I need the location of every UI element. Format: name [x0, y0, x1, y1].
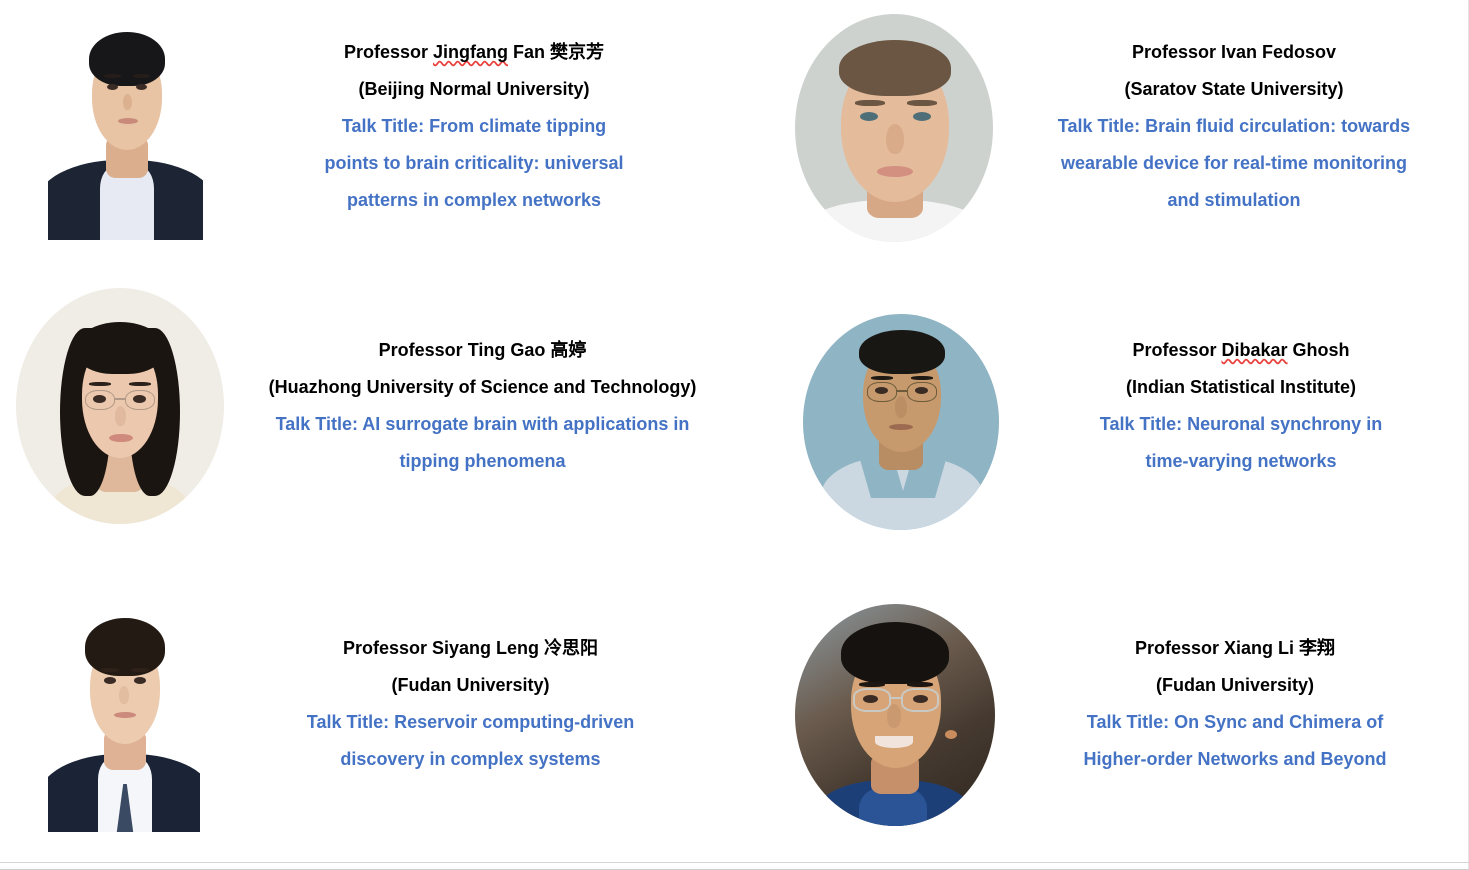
portrait-xiang-li: [795, 604, 995, 826]
name-prefix: Professor: [1132, 42, 1221, 62]
name-prefix: Professor: [379, 340, 468, 360]
photo-mouth: [889, 424, 913, 430]
photo-mouth: [118, 118, 138, 124]
name-rest: Siyang Leng: [432, 638, 544, 658]
photo-brow-right: [907, 100, 937, 106]
photo-eye-left: [93, 395, 106, 403]
photo-hair: [85, 618, 165, 676]
photo-brow-left: [855, 100, 885, 106]
glasses-bridge: [891, 697, 901, 699]
speaker-text-ting-gao: Professor Ting Gao 高婷 (Huazhong Universi…: [224, 288, 735, 480]
talk-title-line-2: discovery in complex systems: [206, 741, 735, 778]
photo-brow-right: [907, 682, 933, 687]
talk-title-line-1: Talk Title: From climate tipping: [213, 108, 735, 145]
speaker-affiliation: (Saratov State University): [999, 71, 1469, 108]
photo-mouth: [877, 166, 913, 177]
speaker-card-ivan-fedosov: Professor Ivan Fedosov (Saratov State Un…: [735, 0, 1469, 282]
talk-title-line-1: Talk Title: AI surrogate brain with appl…: [230, 406, 735, 443]
photo-brow-right: [133, 74, 150, 78]
name-rest: Fan: [508, 42, 550, 62]
talk-title-line-1: Talk Title: Brain fluid circulation: tow…: [999, 108, 1469, 145]
photo-mouth: [114, 712, 136, 718]
photo-hair: [859, 330, 945, 374]
name-cjk: 冷思阳: [544, 638, 598, 658]
speaker-affiliation: (Fudan University): [1001, 667, 1469, 704]
name-rest: Ivan Fedosov: [1221, 42, 1336, 62]
photo-eye-right: [913, 112, 931, 121]
photo-brow-left: [101, 668, 119, 672]
name-misspelled: Jingfang: [433, 42, 508, 62]
photo-nose: [887, 704, 901, 728]
speaker-grid: Professor Jingfang Fan 樊京芳 (Beijing Norm…: [0, 0, 1469, 856]
photo-nose: [115, 406, 126, 426]
speaker-name: Professor Xiang Li 李翔: [1001, 630, 1469, 667]
photo-brow-left: [104, 74, 121, 78]
name-prefix: Professor: [344, 42, 433, 62]
speakers-page: Professor Jingfang Fan 樊京芳 (Beijing Norm…: [0, 0, 1469, 870]
speaker-text-siyang-leng: Professor Siyang Leng 冷思阳 (Fudan Univers…: [200, 592, 735, 778]
portrait-jingfang-fan: [48, 8, 203, 240]
speaker-name: Professor Jingfang Fan 樊京芳: [213, 34, 735, 71]
speaker-affiliation: (Beijing Normal University): [213, 71, 735, 108]
photo-eye-left: [875, 387, 888, 394]
talk-title-line-3: patterns in complex networks: [213, 182, 735, 219]
portrait-dibakar-ghosh: [803, 314, 999, 530]
name-cjk: 高婷: [550, 340, 586, 360]
speaker-affiliation: (Indian Statistical Institute): [1013, 369, 1469, 406]
name-cjk: 樊京芳: [550, 42, 604, 62]
portrait-ivan-fedosov: [795, 14, 993, 242]
photo-hair: [89, 32, 165, 86]
photo-eye-right: [134, 677, 146, 684]
portrait-siyang-leng: [48, 592, 200, 832]
name-prefix: Professor: [1135, 638, 1224, 658]
name-misspelled: Dibakar: [1222, 340, 1288, 360]
talk-title-line-3: and stimulation: [999, 182, 1469, 219]
talk-title-line-2: points to brain criticality: universal: [213, 145, 735, 182]
talk-title-line-2: time-varying networks: [1013, 443, 1469, 480]
talk-title-line-1: Talk Title: On Sync and Chimera of: [1001, 704, 1469, 741]
photo-eye-left: [107, 84, 118, 90]
talk-title-line-2: Higher-order Networks and Beyond: [1001, 741, 1469, 778]
photo-nose: [895, 396, 907, 418]
photo-eye-right: [133, 395, 146, 403]
photo-eye-right: [915, 387, 928, 394]
photo-hair: [841, 622, 949, 684]
photo-hair: [76, 322, 164, 374]
speaker-card-siyang-leng: Professor Siyang Leng 冷思阳 (Fudan Univers…: [0, 590, 735, 856]
speaker-card-ting-gao: Professor Ting Gao 高婷 (Huazhong Universi…: [0, 282, 735, 590]
photo-nose: [119, 686, 129, 704]
speaker-name: Professor Dibakar Ghosh: [1013, 332, 1469, 369]
photo-mouth: [109, 434, 133, 442]
speaker-text-xiang-li: Professor Xiang Li 李翔 (Fudan University)…: [995, 604, 1469, 778]
speaker-card-dibakar-ghosh: Professor Dibakar Ghosh (Indian Statisti…: [735, 282, 1469, 590]
speaker-card-jingfang-fan: Professor Jingfang Fan 樊京芳 (Beijing Norm…: [0, 0, 735, 282]
footer-divider: [0, 862, 1469, 863]
speaker-card-xiang-li: Professor Xiang Li 李翔 (Fudan University)…: [735, 590, 1469, 856]
name-prefix: Professor: [343, 638, 432, 658]
photo-brow-left: [859, 682, 885, 687]
speaker-affiliation: (Huazhong University of Science and Tech…: [230, 369, 735, 406]
photo-nose: [123, 94, 132, 110]
speaker-text-jingfang-fan: Professor Jingfang Fan 樊京芳 (Beijing Norm…: [203, 8, 735, 219]
photo-wrap-xiang-li: [795, 604, 995, 826]
photo-brow-left: [871, 376, 893, 380]
name-prefix: Professor: [1132, 340, 1221, 360]
name-rest: Ting Gao: [468, 340, 551, 360]
photo-eye-left: [863, 695, 878, 703]
photo-wrap-siyang-leng: [48, 592, 200, 832]
talk-title-line-2: wearable device for real-time monitoring: [999, 145, 1469, 182]
portrait-ting-gao: [16, 288, 224, 524]
photo-eye-left: [104, 677, 116, 684]
talk-title-line-2: tipping phenomena: [230, 443, 735, 480]
name-rest: Ghosh: [1288, 340, 1350, 360]
photo-eye-left: [860, 112, 878, 121]
photo-wrap-ivan-fedosov: [795, 14, 993, 242]
photo-mouth: [875, 736, 913, 748]
speaker-name: Professor Ting Gao 高婷: [230, 332, 735, 369]
name-rest: Xiang Li: [1224, 638, 1299, 658]
speaker-name: Professor Siyang Leng 冷思阳: [206, 630, 735, 667]
name-cjk: 李翔: [1299, 638, 1335, 658]
speaker-text-dibakar-ghosh: Professor Dibakar Ghosh (Indian Statisti…: [999, 314, 1469, 480]
speaker-name: Professor Ivan Fedosov: [999, 34, 1469, 71]
photo-eye-right: [136, 84, 147, 90]
photo-wrap-dibakar-ghosh: [803, 314, 999, 530]
photo-brow-right: [129, 382, 151, 386]
photo-microphone: [945, 730, 957, 739]
photo-wrap-ting-gao: [16, 288, 224, 524]
photo-brow-right: [131, 668, 149, 672]
photo-nose: [886, 124, 904, 154]
glasses-bridge: [115, 398, 125, 400]
photo-wrap-jingfang-fan: [48, 8, 203, 240]
photo-brow-right: [911, 376, 933, 380]
photo-brow-left: [89, 382, 111, 386]
talk-title-line-1: Talk Title: Reservoir computing-driven: [206, 704, 735, 741]
speaker-affiliation: (Fudan University): [206, 667, 735, 704]
photo-hair: [839, 40, 951, 96]
talk-title-line-1: Talk Title: Neuronal synchrony in: [1013, 406, 1469, 443]
photo-eye-right: [913, 695, 928, 703]
speaker-text-ivan-fedosov: Professor Ivan Fedosov (Saratov State Un…: [993, 14, 1469, 219]
glasses-bridge: [897, 390, 907, 392]
